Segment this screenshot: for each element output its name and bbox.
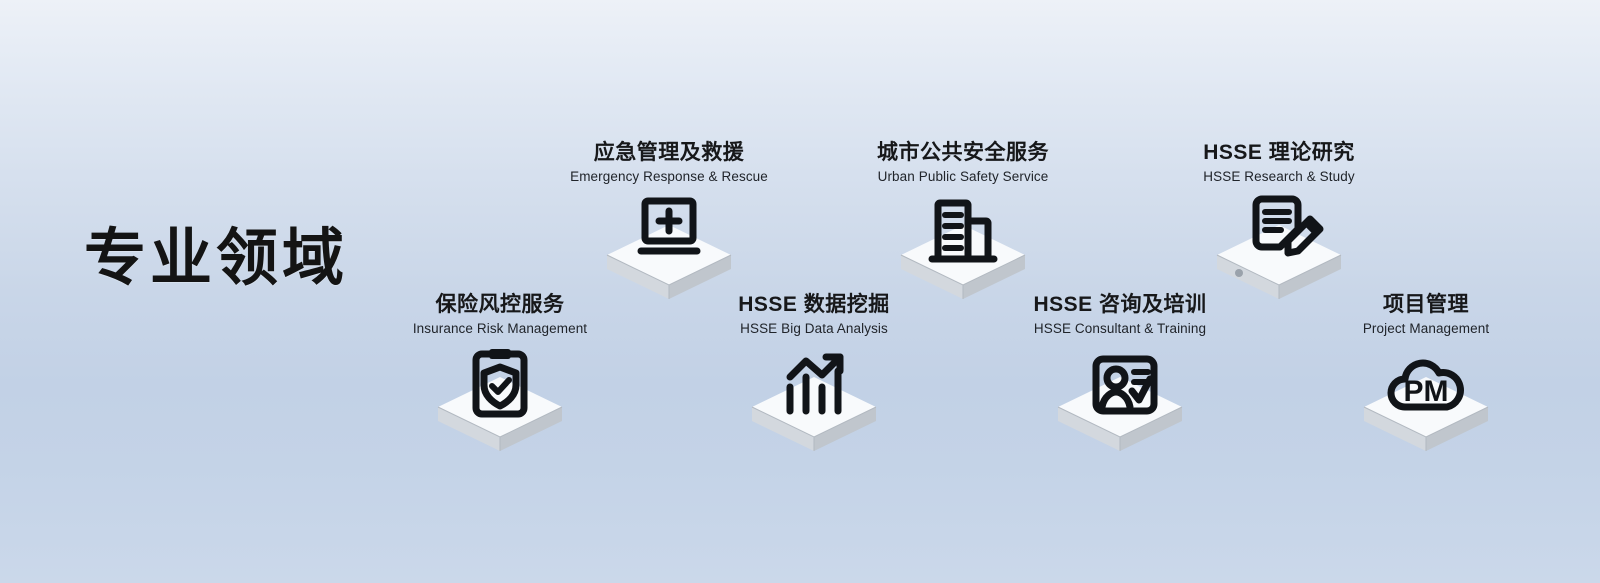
domain-item-emergency-response-rescue[interactable]: 应急管理及救援 Emergency Response & Rescue [539, 142, 799, 305]
domain-icon-stack: PM [1346, 347, 1506, 457]
domain-label-en: Insurance Risk Management [370, 319, 630, 339]
domain-item-project-management[interactable]: 项目管理 Project Management PM [1296, 294, 1556, 457]
domain-item-hsse-consultant-training[interactable]: HSSE 咨询及培训 HSSE Consultant & Training [990, 294, 1250, 457]
professional-domains-banner: 专业领域 应急管理及救援 Emergency Response & Rescue [0, 0, 1600, 583]
domain-item-hsse-research-study[interactable]: HSSE 理论研究 HSSE Research & Study [1149, 142, 1409, 305]
person-card-check-icon [1090, 355, 1162, 417]
domain-label-cn: 保险风控服务 [370, 294, 630, 316]
domain-label-cn: 城市公共安全服务 [833, 142, 1093, 164]
domain-item-labels: 应急管理及救援 Emergency Response & Rescue [539, 142, 799, 187]
city-buildings-icon [932, 199, 994, 265]
domain-label-cn: 应急管理及救援 [539, 142, 799, 164]
domain-item-labels: 项目管理 Project Management [1296, 294, 1556, 339]
document-pencil-icon [1248, 197, 1322, 265]
domain-label-cn: HSSE 理论研究 [1149, 142, 1409, 164]
domain-icon-stack [1199, 195, 1359, 305]
pm-abbreviation: PM [1404, 375, 1449, 408]
domain-label-cn: 项目管理 [1296, 294, 1556, 316]
domain-label-cn: HSSE 咨询及培训 [990, 294, 1250, 316]
domain-label-en: Emergency Response & Rescue [539, 167, 799, 187]
cloud-pm-icon: PM [1383, 357, 1469, 413]
domain-icon-stack [883, 195, 1043, 305]
domain-item-labels: HSSE 理论研究 HSSE Research & Study [1149, 142, 1409, 187]
domain-label-en: Urban Public Safety Service [833, 167, 1093, 187]
domain-icon-stack [734, 347, 894, 457]
domain-item-labels: HSSE 数据挖掘 HSSE Big Data Analysis [684, 294, 944, 339]
domain-icon-stack [420, 347, 580, 457]
domain-label-en: HSSE Consultant & Training [990, 319, 1250, 339]
domain-icon-stack [589, 195, 749, 305]
domain-item-hsse-big-data-analysis[interactable]: HSSE 数据挖掘 HSSE Big Data Analysis [684, 294, 944, 457]
domain-icon-stack [1040, 347, 1200, 457]
domain-item-labels: 城市公共安全服务 Urban Public Safety Service [833, 142, 1093, 187]
domain-item-labels: 保险风控服务 Insurance Risk Management [370, 294, 630, 339]
domain-item-urban-public-safety-service[interactable]: 城市公共安全服务 Urban Public Safety Service [833, 142, 1093, 305]
page-title: 专业领域 [84, 228, 348, 290]
bar-chart-trend-icon [782, 353, 846, 415]
clipboard-shield-check-icon [471, 347, 529, 419]
domain-item-labels: HSSE 咨询及培训 HSSE Consultant & Training [990, 294, 1250, 339]
domain-label-en: HSSE Big Data Analysis [684, 319, 944, 339]
domain-item-insurance-risk-management[interactable]: 保险风控服务 Insurance Risk Management [370, 294, 630, 457]
domain-label-en: HSSE Research & Study [1149, 167, 1409, 187]
domain-label-cn: HSSE 数据挖掘 [684, 294, 944, 316]
first-aid-monitor-icon [635, 197, 703, 263]
domain-label-en: Project Management [1296, 319, 1556, 339]
